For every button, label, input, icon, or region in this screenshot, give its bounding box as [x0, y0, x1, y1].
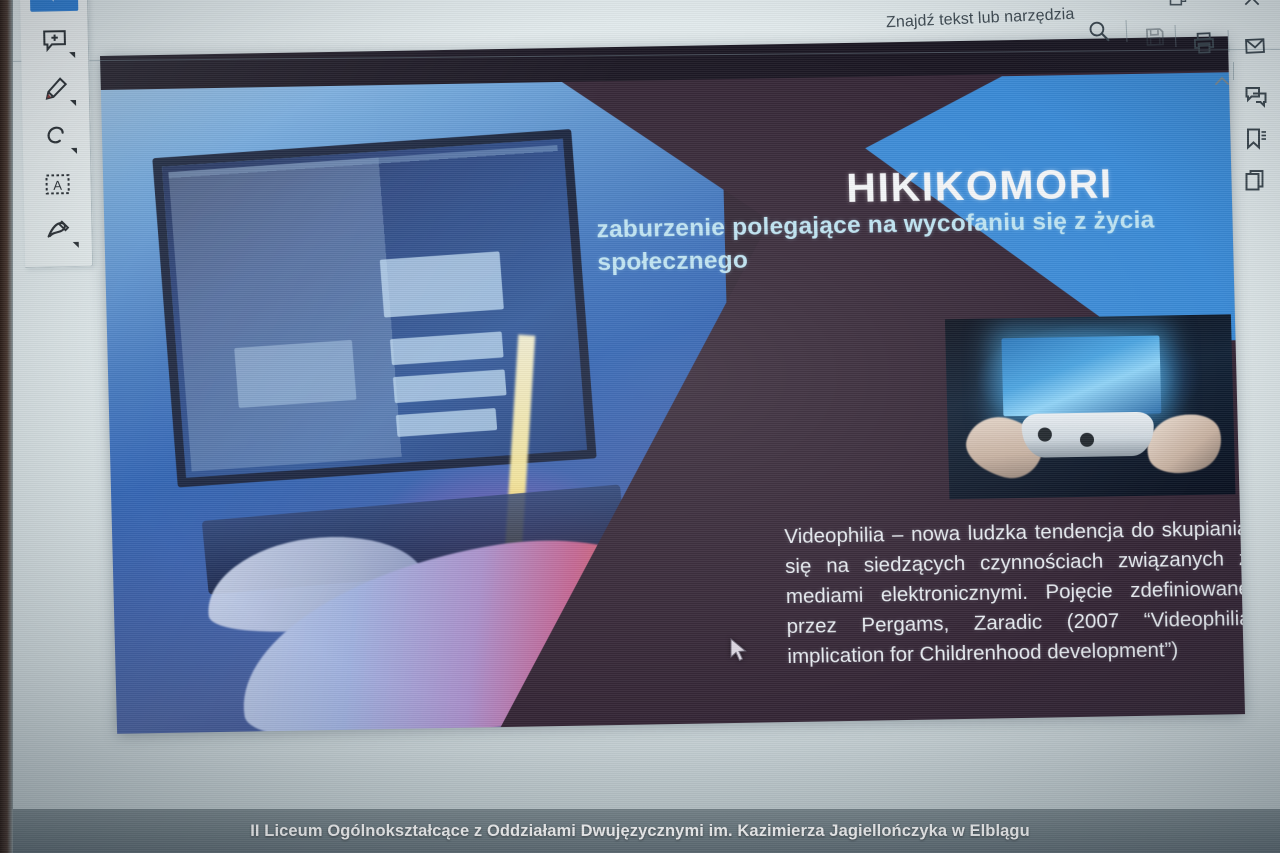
signature-tool[interactable]	[36, 211, 81, 252]
save-icon[interactable]	[1141, 23, 1168, 50]
search-input[interactable]: Znajdź tekst lub narzędzia	[886, 6, 1075, 33]
add-comment-tool[interactable]	[32, 21, 77, 62]
reader-toolbar: Znajdź tekst lub narzędzia	[0, 0, 1280, 62]
print-icon[interactable]	[1189, 28, 1218, 57]
toolbar-separator	[1126, 20, 1128, 42]
select-tool[interactable]	[30, 0, 79, 12]
caption-text: II Liceum Ogólnokształcące z Oddziałami …	[250, 822, 1030, 841]
pages-panel-icon[interactable]	[1238, 164, 1274, 198]
svg-text:A: A	[53, 178, 62, 193]
projection-stage: HIKIKOMORI zaburzenie polegające na wyco…	[0, 0, 1280, 853]
comments-panel-icon[interactable]	[1238, 80, 1274, 114]
window-restore-icon[interactable]	[1166, 0, 1190, 10]
add-text-box-tool[interactable]: A	[35, 165, 80, 206]
mouse-pointer	[729, 638, 749, 669]
projected-slide[interactable]: HIKIKOMORI zaburzenie polegające na wyco…	[100, 36, 1245, 733]
side-panel-rail	[1232, 58, 1280, 218]
slide-canvas: HIKIKOMORI zaburzenie polegające na wyco…	[100, 36, 1245, 733]
draw-freehand-tool[interactable]	[34, 117, 79, 158]
chevron-down-icon[interactable]	[70, 100, 76, 106]
annotation-tool-rail: A	[20, 0, 93, 268]
toolbar-separator	[1228, 30, 1230, 52]
highlighter-tool[interactable]	[33, 69, 78, 110]
slide-photo-inset	[945, 314, 1236, 499]
toolbar-divider	[0, 49, 1280, 62]
chevron-down-icon[interactable]	[73, 242, 79, 248]
chevron-down-icon[interactable]	[71, 148, 77, 154]
game-controller-graphic	[1021, 412, 1154, 458]
slide-subtitle: zaburzenie polegające na wycofaniu się z…	[596, 203, 1198, 280]
search-icon[interactable]	[1085, 17, 1112, 44]
caption-bar: II Liceum Ogólnokształcące z Oddziałami …	[0, 809, 1280, 853]
email-icon[interactable]	[1241, 32, 1268, 59]
tv-screen-graphic	[1001, 336, 1161, 417]
close-icon[interactable]	[1240, 0, 1264, 10]
screen-card	[380, 251, 504, 317]
scroll-up-icon[interactable]	[1214, 74, 1230, 92]
monitor-graphic	[152, 129, 596, 487]
controller-stick	[1038, 427, 1052, 441]
chevron-down-icon[interactable]	[69, 52, 75, 58]
controller-stick	[1080, 433, 1094, 447]
frame-left-edge	[0, 0, 13, 853]
slide-body-text: Videophilia – nowa ludzka tendencja do s…	[784, 514, 1245, 672]
bookmarks-panel-icon[interactable]	[1238, 122, 1274, 156]
screen-card	[234, 340, 356, 408]
toolbar-separator	[1175, 25, 1177, 47]
